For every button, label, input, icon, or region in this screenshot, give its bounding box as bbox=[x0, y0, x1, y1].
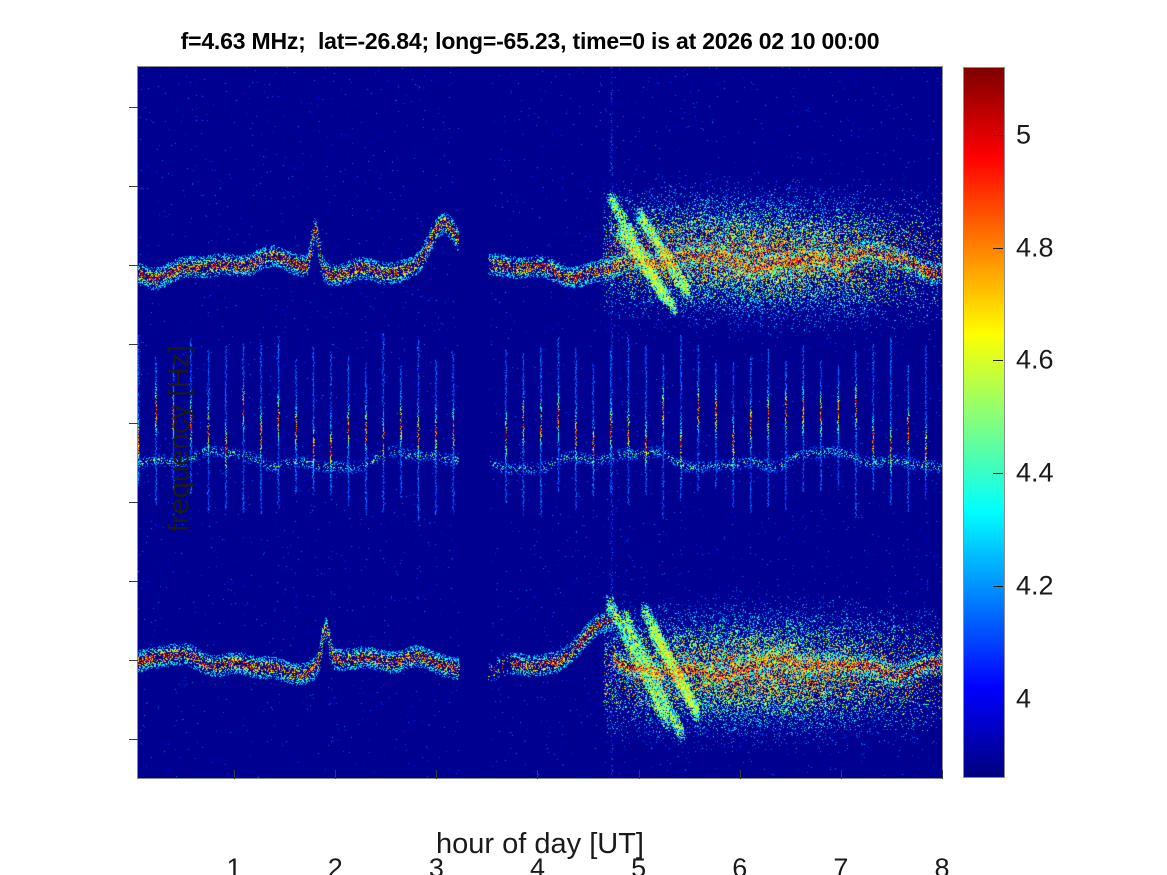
colorbar-tick-mark bbox=[993, 586, 1003, 587]
x-tick-mark bbox=[234, 770, 235, 779]
spectrogram-heatmap bbox=[138, 67, 942, 778]
colorbar-gradient bbox=[964, 68, 1004, 777]
x-axis-label: hour of day [UT] bbox=[137, 828, 943, 861]
y-tick-mark bbox=[129, 660, 138, 661]
y-tick-mark bbox=[129, 344, 138, 345]
plot-area: frequency [Hz] 86420-2-4-6-8 12345678 bbox=[137, 66, 943, 779]
y-tick-mark bbox=[129, 265, 138, 266]
x-tick-mark bbox=[841, 770, 842, 779]
x-tick-mark bbox=[537, 770, 538, 779]
colorbar-tick-label: 5 bbox=[1016, 119, 1136, 150]
y-tick-mark bbox=[129, 502, 138, 503]
x-tick-mark bbox=[639, 770, 640, 779]
colorbar-tick-label: 4 bbox=[1016, 684, 1136, 715]
x-tick-mark bbox=[740, 770, 741, 779]
x-tick-mark bbox=[436, 770, 437, 779]
y-tick-mark bbox=[129, 423, 138, 424]
colorbar-tick-label: 4.2 bbox=[1016, 571, 1136, 602]
x-tick-mark bbox=[335, 770, 336, 779]
y-axis-label: frequency [Hz] bbox=[164, 159, 197, 719]
figure-title: f=4.63 MHz; lat=-26.84; long=-65.23, tim… bbox=[0, 28, 1060, 55]
colorbar-tick-mark bbox=[993, 360, 1003, 361]
colorbar-tick-label: 4.6 bbox=[1016, 345, 1136, 376]
y-tick-mark bbox=[129, 107, 138, 108]
colorbar bbox=[963, 67, 1005, 778]
colorbar-tick-label: 4.4 bbox=[1016, 458, 1136, 489]
colorbar-tick-label: 4.8 bbox=[1016, 232, 1136, 263]
x-tick-mark bbox=[942, 770, 943, 779]
colorbar-tick-mark bbox=[993, 248, 1003, 249]
spectrogram-figure: f=4.63 MHz; lat=-26.84; long=-65.23, tim… bbox=[0, 0, 1167, 875]
colorbar-tick-mark bbox=[993, 135, 1003, 136]
colorbar-tick-mark bbox=[993, 473, 1003, 474]
y-tick-mark bbox=[129, 186, 138, 187]
y-tick-mark bbox=[129, 581, 138, 582]
colorbar-tick-mark bbox=[993, 699, 1003, 700]
y-tick-mark bbox=[129, 739, 138, 740]
